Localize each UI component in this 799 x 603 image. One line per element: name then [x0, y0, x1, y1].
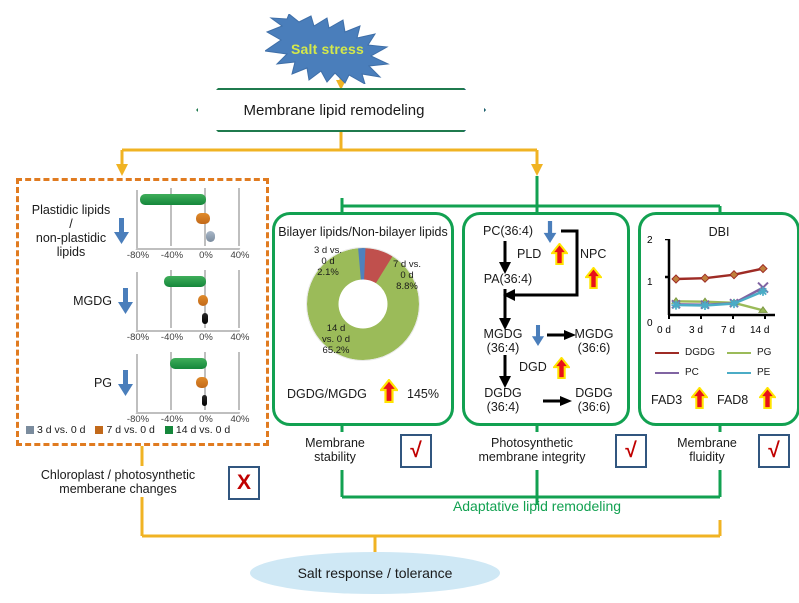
legend-label: 3 d vs. 0 d [37, 424, 85, 436]
bar-3d [202, 395, 207, 406]
dbi-line-chart [663, 239, 781, 321]
row-pg-label: PG [38, 376, 118, 390]
legend-swatch [95, 426, 103, 434]
donut-label-14d: 14 d vs. 0 d [305, 323, 367, 345]
outcome-photosynthetic-integrity-label: Photosynthetic membrane integrity [457, 436, 607, 464]
bar-3d [206, 231, 215, 242]
row-mgdg: MGDG [38, 288, 133, 314]
legend-line [655, 352, 679, 354]
outcome-membrane-stability-badge: √ [400, 434, 432, 468]
hexagon-label: Membrane lipid remodeling [196, 88, 486, 132]
legend-line [655, 372, 679, 374]
up-arrow-icon [759, 387, 776, 409]
dgdg-mgdg-ratio-label: DGDG/MGDG [287, 387, 367, 401]
legend-label: 7 d vs. 0 d [106, 424, 154, 436]
panel-dbi-title: DBI [641, 225, 797, 239]
legend-label: 14 d vs. 0 d [176, 424, 230, 436]
arrow-mgdg-to-dgdg [495, 355, 515, 389]
panel-bilayer-lipids: Bilayer lipids/Non-bilayer lipids 3 d vs… [272, 212, 454, 426]
axis-line [136, 190, 138, 248]
panel-pathway: PC(36:4) PLD NPC PA(36:4) MGDG (36:4) MG… [462, 212, 630, 426]
chloroplast-status-badge: X [228, 466, 260, 500]
bar-chart-plastidic: -80% -40% 0% 40% [132, 186, 260, 264]
row-pg: PG [38, 370, 133, 396]
adaptive-remodeling-label: Adaptative lipid remodeling [387, 498, 687, 514]
node-dgdg-366: DGDG (36:6) [565, 387, 623, 414]
donut-value-7d: 8.8% [378, 281, 436, 292]
bar-7d [196, 377, 208, 388]
dbi-legend-item-pc: PC [655, 367, 699, 378]
dbi-legend-item-dgdg: DGDG [655, 347, 715, 358]
legend-item-14d: 14 d vs. 0 d [165, 424, 230, 436]
x-tick-3d: 3 d [689, 325, 703, 336]
row-mgdg-label: MGDG [38, 294, 118, 308]
bar-14d [170, 358, 207, 369]
x-tick-label: -80% [123, 332, 153, 343]
donut-label-7d: 7 d vs. 0 d [378, 259, 436, 281]
donut-label-3d: 3 d vs. 0 d [299, 245, 357, 267]
x-tick-label: -40% [157, 332, 187, 343]
donut-value-14d: 65.2% [305, 345, 367, 356]
node-pa: PA(36:4) [473, 273, 543, 287]
x-tick-0d: 0 d [657, 325, 671, 336]
legend-item-7d: 7 d vs. 0 d [95, 424, 154, 436]
axis-line [136, 272, 138, 330]
panel-dbi: DBI 2 1 0 [638, 212, 799, 426]
x-tick-label: -40% [157, 250, 187, 261]
legend-label: PE [757, 367, 770, 378]
bar-14d [140, 194, 206, 205]
salt-stress-label: Salt stress [265, 14, 390, 84]
x-tick-label: 0% [191, 250, 221, 261]
x-tick-label: -80% [123, 250, 153, 261]
legend-line [727, 352, 751, 354]
up-arrow-icon [553, 357, 570, 379]
x-tick-label: 40% [225, 332, 255, 343]
bar-chart-pg: -80% -40% 0% 40% [132, 350, 260, 428]
x-tick-label: 40% [225, 250, 255, 261]
chloroplast-outcome-label: Chloroplast / photosynthetic memberane c… [18, 468, 218, 496]
y-tick-1: 1 [647, 277, 653, 288]
up-arrow-icon [380, 379, 398, 403]
gridline [238, 352, 240, 410]
membrane-lipid-remodeling-hexagon: Membrane lipid remodeling [196, 88, 486, 132]
outcome-membrane-fluidity-badge: √ [758, 434, 790, 468]
x-tick-14d: 14 d [750, 325, 769, 336]
node-dgdg-364: DGDG (36:4) [469, 387, 537, 414]
outcome-membrane-stability-label: Membrane stability [285, 436, 385, 464]
x-tick-7d: 7 d [721, 325, 735, 336]
dgdg-mgdg-ratio-value: 145% [407, 387, 439, 401]
dbi-legend-item-pe: PE [727, 367, 770, 378]
y-tick-2: 2 [647, 235, 653, 246]
legend-swatch [165, 426, 173, 434]
bar-7d [196, 213, 210, 224]
outcome-membrane-fluidity-label: Membrane fluidity [662, 436, 752, 464]
bar-3d [202, 313, 208, 324]
down-arrow-icon [531, 325, 545, 346]
bar-7d [198, 295, 208, 306]
legend-line [727, 372, 751, 374]
node-mgdg-364: MGDG (36:4) [471, 328, 535, 355]
down-arrow-icon [114, 218, 129, 244]
legend-swatch [26, 426, 34, 434]
salt-response-ellipse: Salt response / tolerance [250, 552, 500, 594]
salt-stress-star: Salt stress [265, 14, 390, 84]
gridline [238, 188, 240, 246]
axis-line [136, 354, 138, 412]
legend-label: PG [757, 347, 771, 358]
y-tick-0: 0 [647, 318, 653, 329]
gene-fad8-label: FAD8 [717, 393, 748, 407]
donut-value-3d: 2.1% [299, 267, 357, 278]
row-plastidic-label: Plastidic lipids / non-plastidic lipids [28, 203, 114, 259]
legend-label: DGDG [685, 347, 715, 358]
bar-chart-mgdg: -80% -40% 0% 40% [132, 268, 260, 346]
down-arrow-icon [118, 288, 133, 314]
gridline [238, 270, 240, 328]
salt-response-label: Salt response / tolerance [298, 565, 453, 581]
bar-chart-legend: 3 d vs. 0 d 7 d vs. 0 d 14 d vs. 0 d [26, 424, 230, 436]
outcome-photosynthetic-integrity-badge: √ [615, 434, 647, 468]
legend-label: PC [685, 367, 699, 378]
down-arrow-icon [118, 370, 133, 396]
node-mgdg-366: MGDG (36:6) [565, 328, 623, 355]
up-arrow-icon [691, 387, 708, 409]
row-plastidic-lipids: Plastidic lipids / non-plastidic lipids [28, 196, 133, 266]
x-tick-label: 0% [191, 332, 221, 343]
dbi-legend-item-pg: PG [727, 347, 771, 358]
panel-bilayer-title: Bilayer lipids/Non-bilayer lipids [275, 225, 451, 239]
legend-item-3d: 3 d vs. 0 d [26, 424, 85, 436]
arrow-pa-to-mgdg [495, 289, 515, 331]
gene-fad3-label: FAD3 [651, 393, 682, 407]
bar-14d [164, 276, 206, 287]
enzyme-dgd-label: DGD [519, 360, 547, 374]
